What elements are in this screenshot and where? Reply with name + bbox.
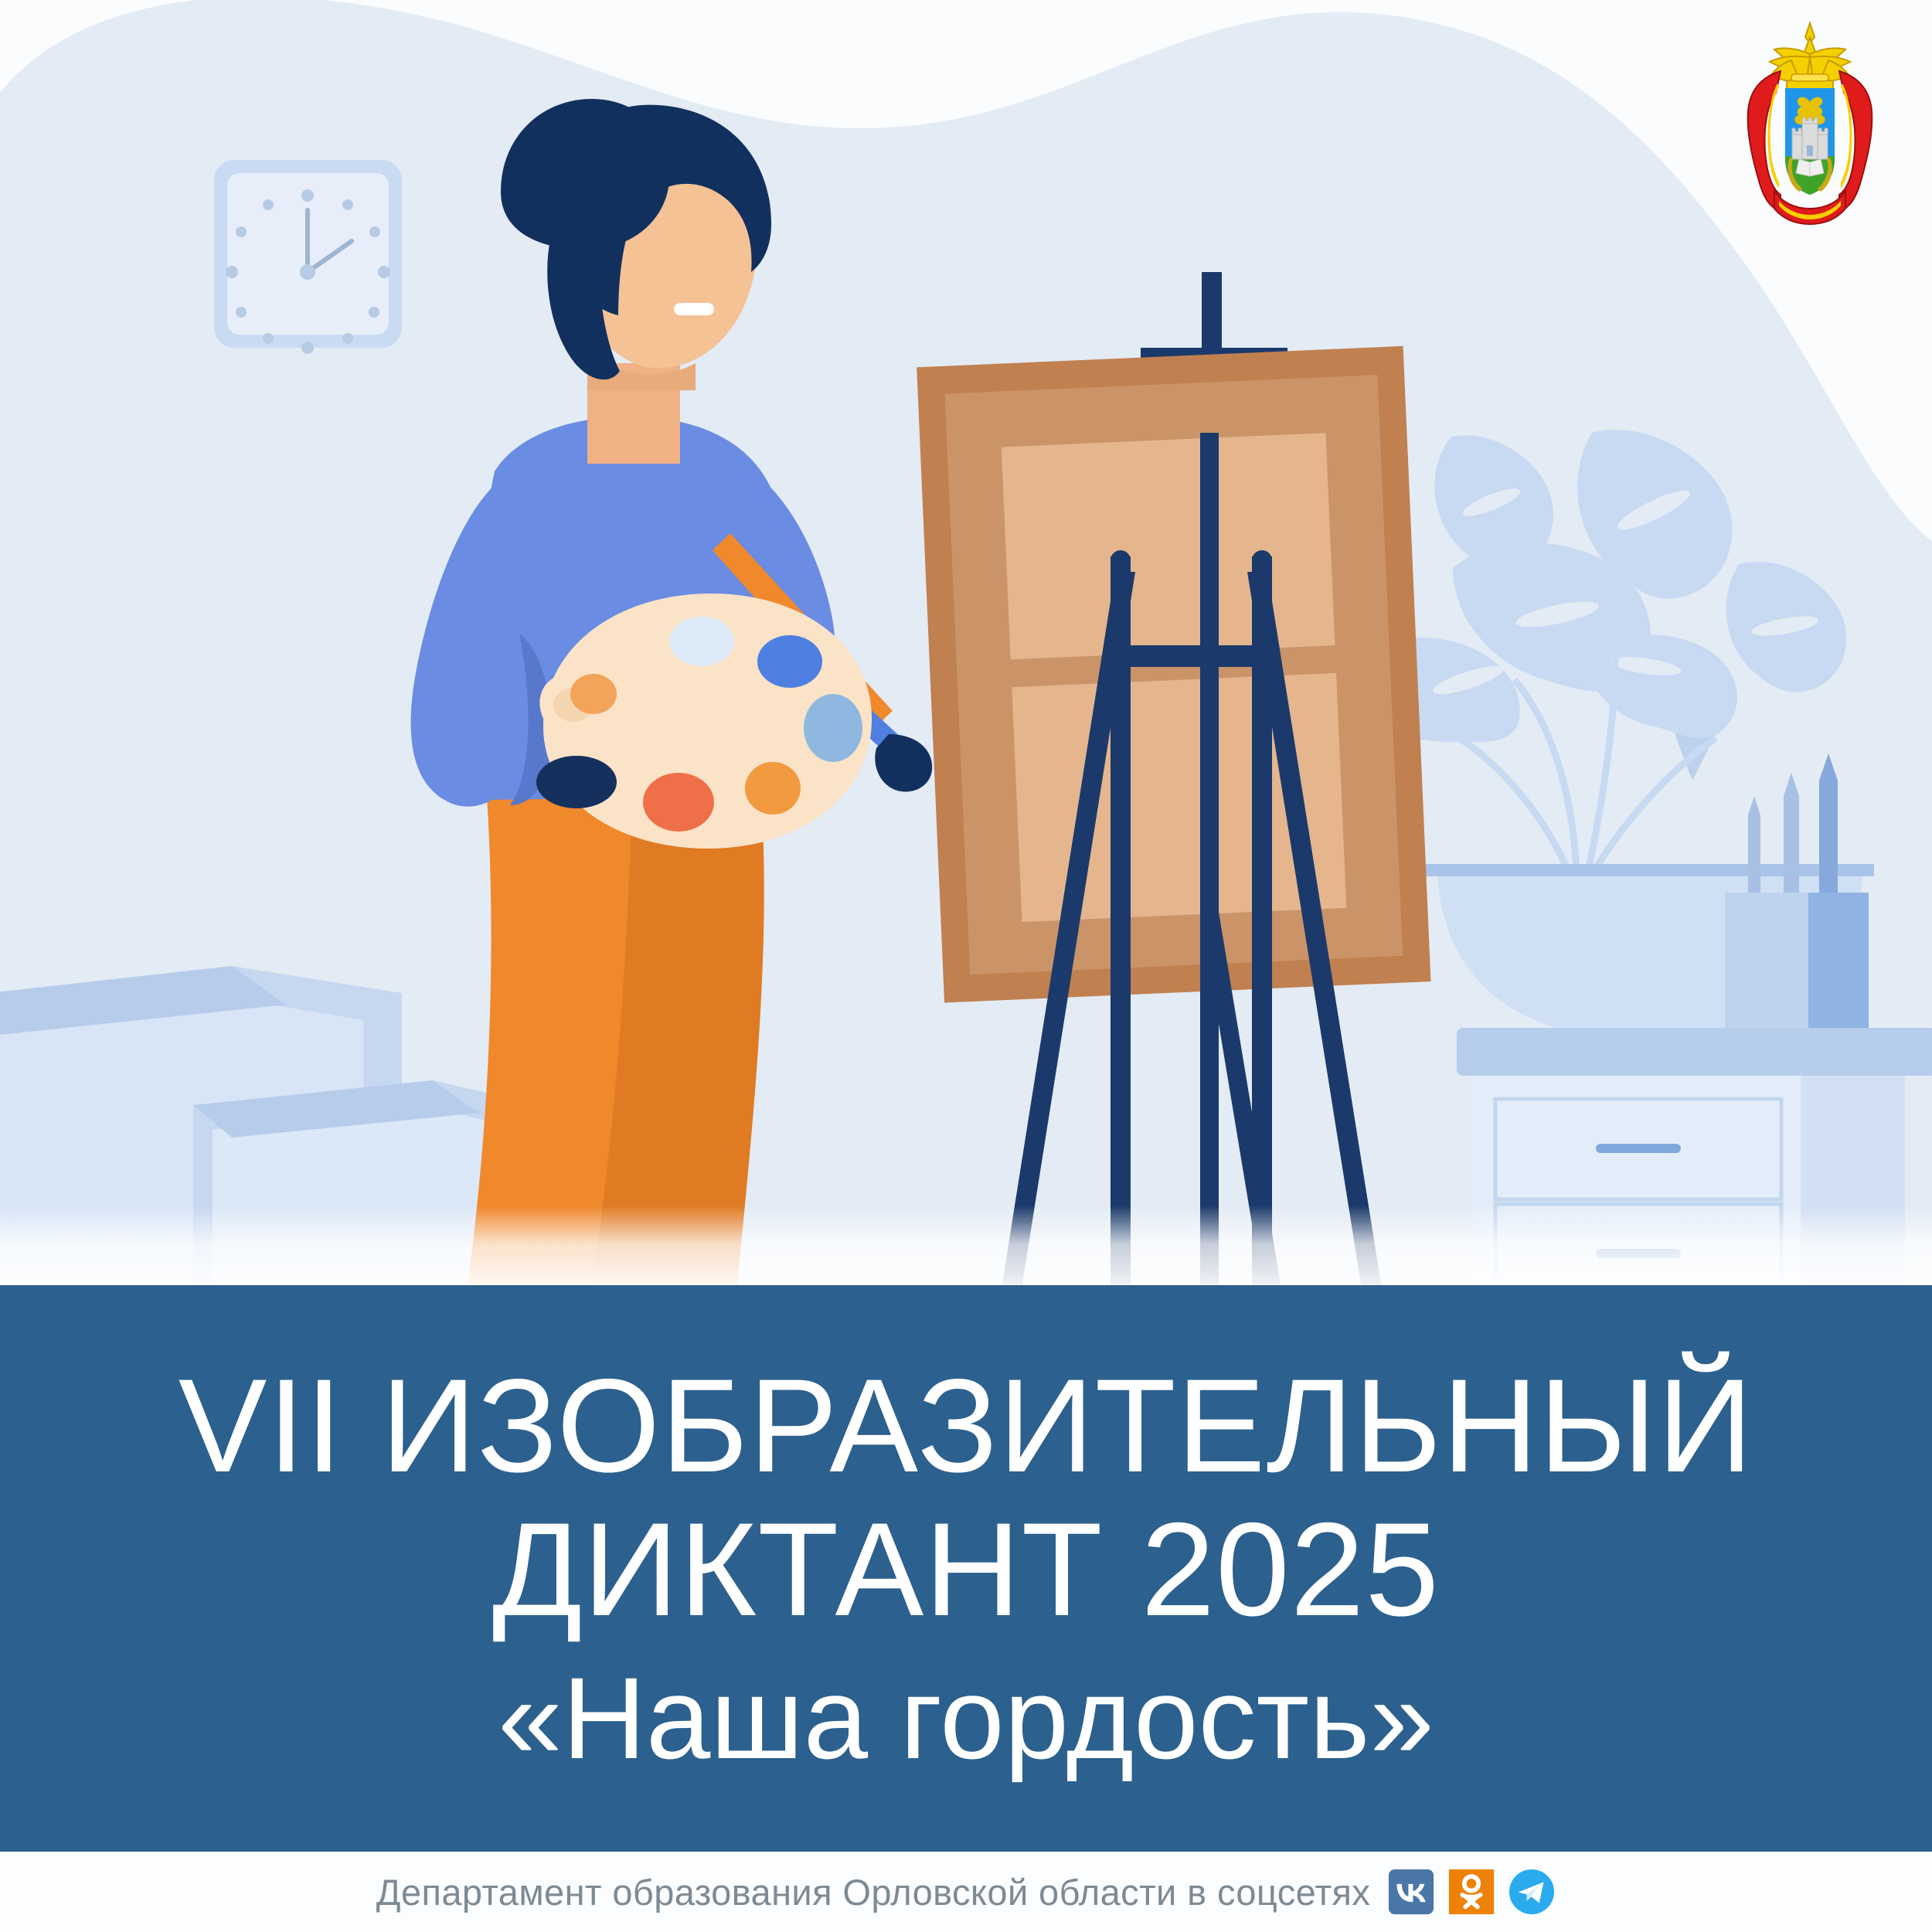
shield [1785, 88, 1835, 195]
page-title: VII ИЗОБРАЗИТЕЛЬНЫЙ ДИКТАНТ 2025 [179, 1355, 1754, 1642]
paint-blob-blue [757, 635, 822, 688]
easel-mast [1200, 433, 1219, 1298]
poster-root: VII ИЗОБРАЗИТЕЛЬНЫЙ ДИКТАНТ 2025 «Наша г… [0, 0, 1932, 1932]
paint-blob-orange [745, 762, 801, 815]
coat-of-arms-oryol [1694, 6, 1926, 238]
odnoklassniki-icon[interactable] [1447, 1868, 1495, 1916]
drawer-handle-1 [1596, 1144, 1681, 1153]
page-subtitle: «Наша гордость» [498, 1655, 1434, 1782]
vk-icon[interactable] [1387, 1868, 1435, 1916]
crown-icon [1770, 23, 1850, 90]
paint-blob-paleblue [669, 617, 734, 666]
paint-blob-navy [536, 756, 617, 808]
cabinet-side [1801, 1076, 1905, 1314]
easel-tray [1111, 645, 1273, 667]
drawer-handle-2 [1596, 1249, 1681, 1258]
paint-blob-lightblue [804, 694, 862, 762]
paint-blob-red [643, 773, 714, 832]
footer-label: Департамент образования Орловской област… [376, 1871, 1371, 1913]
paint-blob-orange-top [570, 674, 617, 714]
studio-illustration [0, 0, 1932, 1314]
cup-right [1808, 893, 1869, 1039]
social-links [1387, 1868, 1556, 1916]
cup-left [1725, 893, 1808, 1039]
mouth [674, 303, 714, 315]
telegram-icon[interactable] [1508, 1868, 1556, 1916]
wall-clock [214, 160, 402, 354]
illustration-svg [0, 0, 1932, 1314]
cabinet [1457, 1028, 1932, 1314]
title-banner: VII ИЗОБРАЗИТЕЛЬНЫЙ ДИКТАНТ 2025 «Наша г… [0, 1285, 1932, 1852]
cabinet-top [1457, 1028, 1932, 1076]
footer-bar: Департамент образования Орловской област… [0, 1852, 1932, 1932]
